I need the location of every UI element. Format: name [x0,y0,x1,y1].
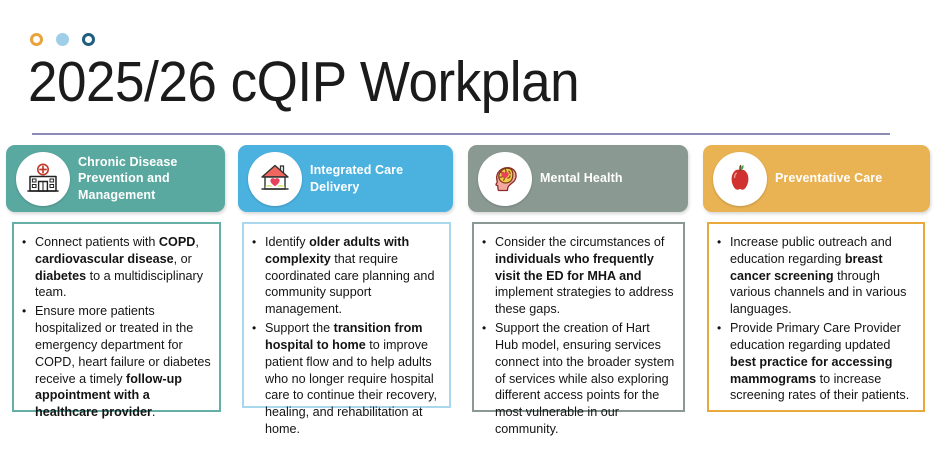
title-divider [32,133,890,135]
dot-orange-ring-icon [30,33,43,46]
page-title: 2025/26 cQIP Workplan [28,52,579,114]
column-body-chronic-disease-prevention-and-management: Connect patients with COPD, cardiovascul… [12,222,221,412]
body-text: , or [174,252,192,266]
house-heart-icon [248,152,302,206]
body-text: Consider the circumstances of [495,235,664,249]
body-text: Connect patients with [35,235,159,249]
emphasis-text: diabetes [35,269,86,283]
apple-icon [713,152,767,206]
decorative-dots [30,33,95,46]
bullet-list: Increase public outreach and education r… [715,234,915,404]
bullet-list: Identify older adults with complexity th… [250,234,441,438]
body-text: , [195,235,199,249]
column-body-mental-health: Consider the circumstances of individual… [472,222,685,412]
list-item: Increase public outreach and education r… [715,234,915,318]
slide-canvas: 2025/26 cQIP Workplan Chronic Disease Pr… [0,0,936,462]
body-text: . [152,405,156,419]
column-body-preventative-care: Increase public outreach and education r… [707,222,925,412]
dot-light-blue-icon [56,33,69,46]
bullet-list: Consider the circumstances of individual… [480,234,675,438]
head-brain-heart-icon [478,152,532,206]
list-item: Support the creation of Hart Hub model, … [480,320,675,438]
list-item: Support the transition from hospital to … [250,320,441,438]
body-text: Provide Primary Care Provider education … [730,321,901,352]
column-header-label: Mental Health [540,170,623,187]
emphasis-text: COPD [159,235,195,249]
column-integrated-care-delivery: Integrated Care DeliveryIdentify older a… [238,145,453,212]
body-text: Support the creation of Hart Hub model, … [495,321,674,436]
workplan-columns: Chronic Disease Prevention and Managemen… [0,145,936,420]
column-header-label: Preventative Care [775,170,882,187]
bullet-list: Connect patients with COPD, cardiovascul… [20,234,211,421]
list-item: Provide Primary Care Provider education … [715,320,915,404]
emphasis-text: individuals who frequently visit the ED … [495,252,654,283]
body-text: to improve patient flow and to help adul… [265,338,437,436]
column-header-chronic-disease-prevention-and-management[interactable]: Chronic Disease Prevention and Managemen… [6,145,225,212]
body-text: Identify [265,235,309,249]
hospital-icon [16,152,70,206]
column-preventative-care: Preventative CareIncrease public outreac… [703,145,930,212]
column-chronic-disease-prevention-and-management: Chronic Disease Prevention and Managemen… [6,145,225,212]
list-item: Connect patients with COPD, cardiovascul… [20,234,211,301]
column-header-preventative-care[interactable]: Preventative Care [703,145,930,212]
body-text: Ensure more patients hospitalized or tre… [35,304,211,385]
list-item: Consider the circumstances of individual… [480,234,675,318]
body-text: implement strategies to address these ga… [495,285,674,316]
column-body-integrated-care-delivery: Identify older adults with complexity th… [242,222,451,408]
dot-dark-blue-ring-icon [82,33,95,46]
column-mental-health: Mental HealthConsider the circumstances … [468,145,688,212]
column-header-label: Integrated Care Delivery [310,162,403,195]
body-text: Support the [265,321,334,335]
column-header-integrated-care-delivery[interactable]: Integrated Care Delivery [238,145,453,212]
column-header-mental-health[interactable]: Mental Health [468,145,688,212]
list-item: Identify older adults with complexity th… [250,234,441,318]
emphasis-text: cardiovascular disease [35,252,174,266]
list-item: Ensure more patients hospitalized or tre… [20,303,211,421]
column-header-label: Chronic Disease Prevention and Managemen… [78,154,177,204]
